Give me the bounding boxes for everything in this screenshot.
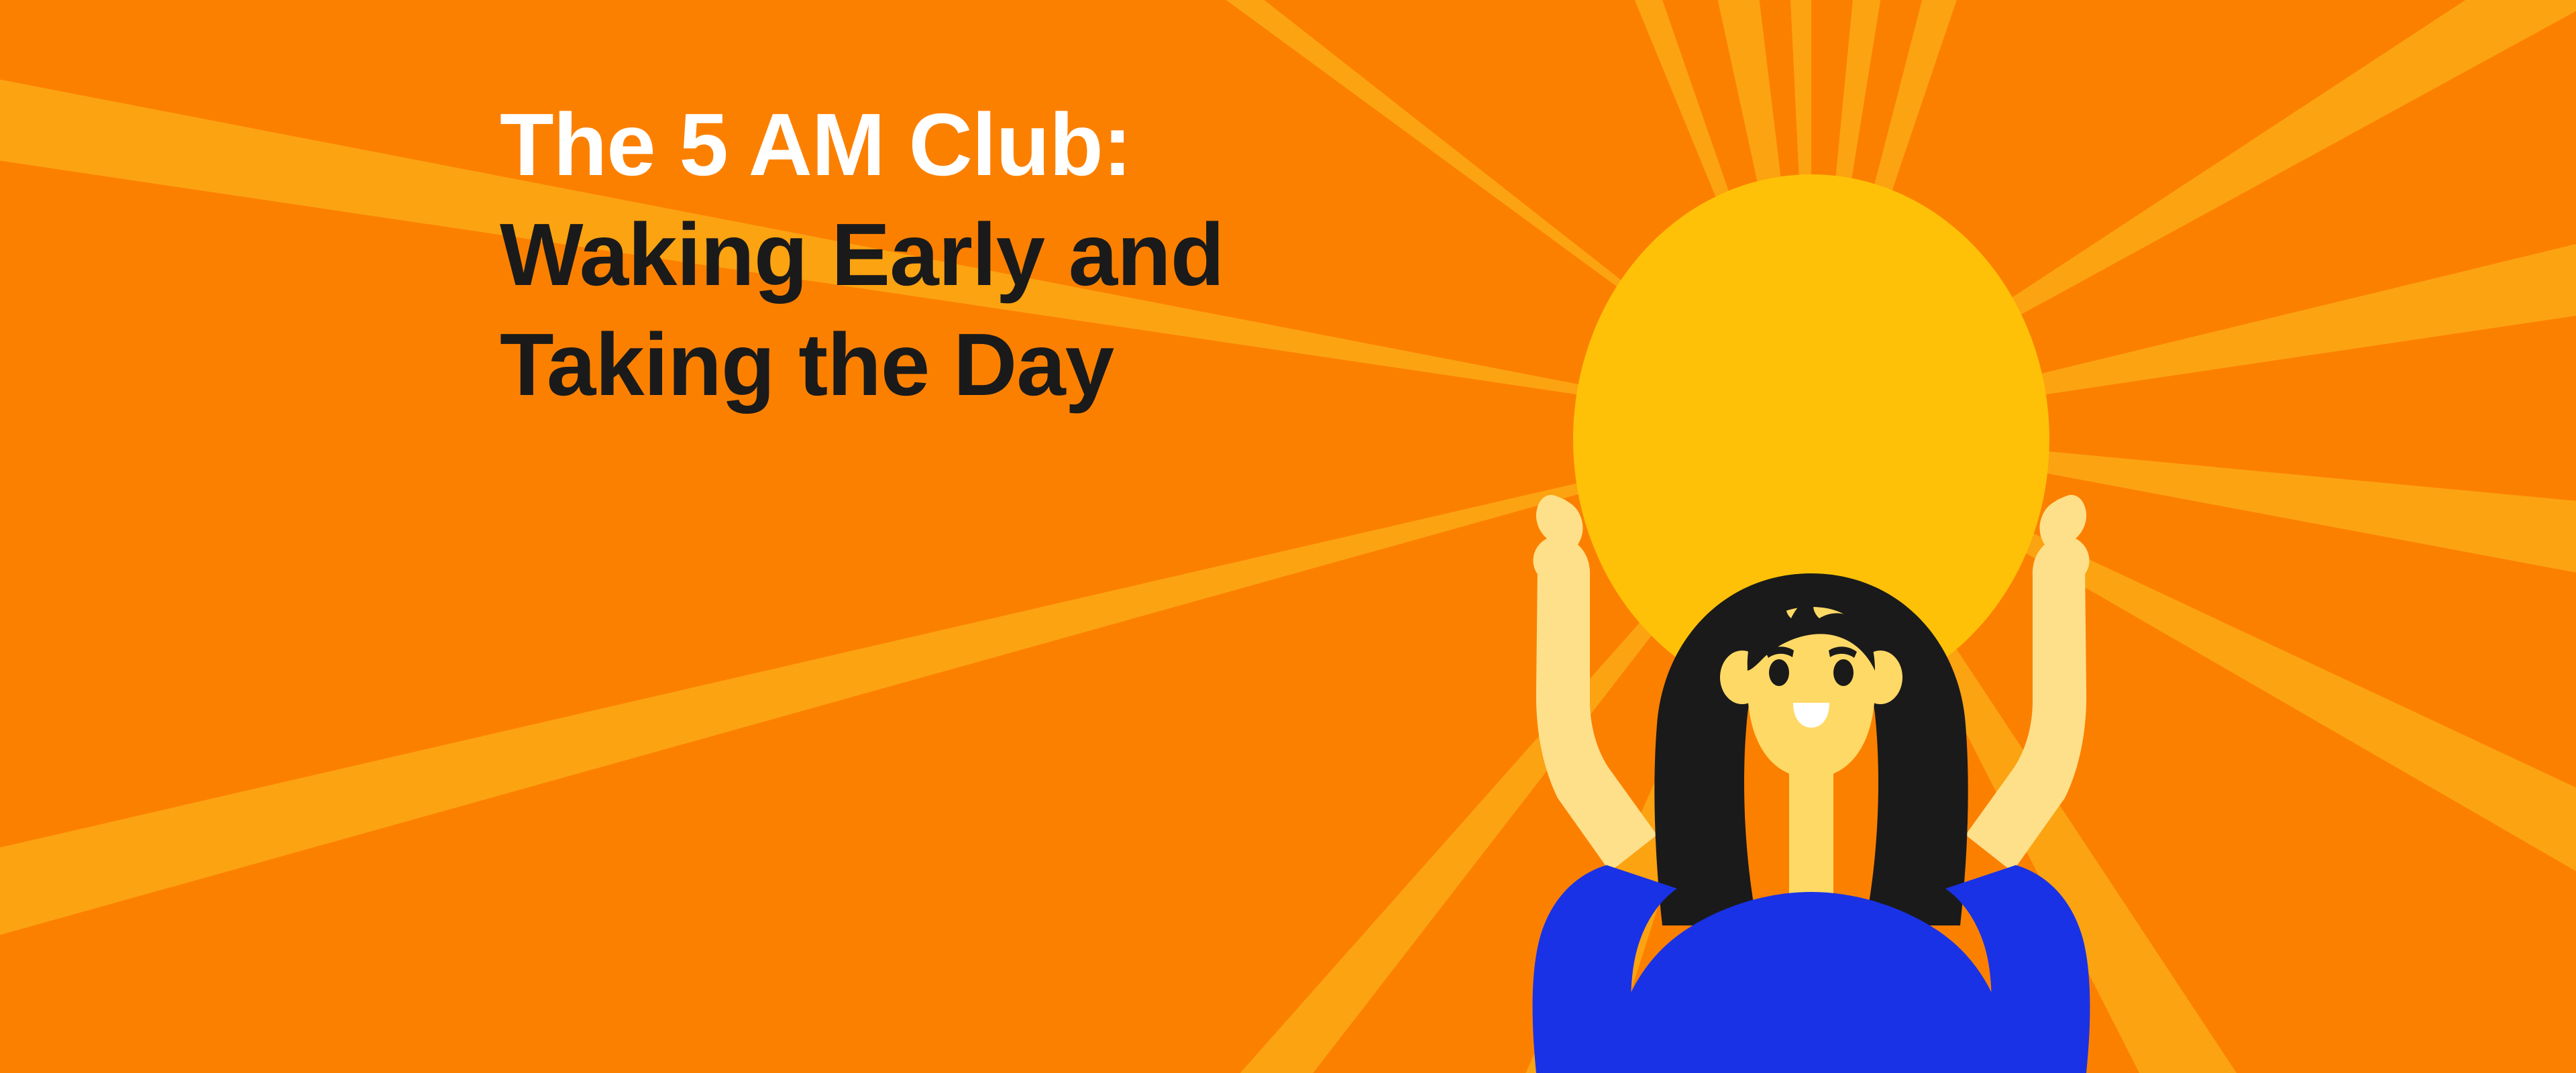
title-line-2: Waking Early and bbox=[500, 211, 1224, 299]
hero-banner: The 5 AM Club: Waking Early and Taking t… bbox=[0, 0, 2576, 1073]
left-eye bbox=[1769, 659, 1789, 686]
title-line-1: The 5 AM Club: bbox=[500, 101, 1224, 189]
right-eye bbox=[1833, 659, 1854, 686]
woman-lifting-sun-illustration bbox=[0, 0, 2576, 1073]
banner-title: The 5 AM Club: Waking Early and Taking t… bbox=[500, 101, 1224, 431]
title-line-3: Taking the Day bbox=[500, 321, 1224, 409]
